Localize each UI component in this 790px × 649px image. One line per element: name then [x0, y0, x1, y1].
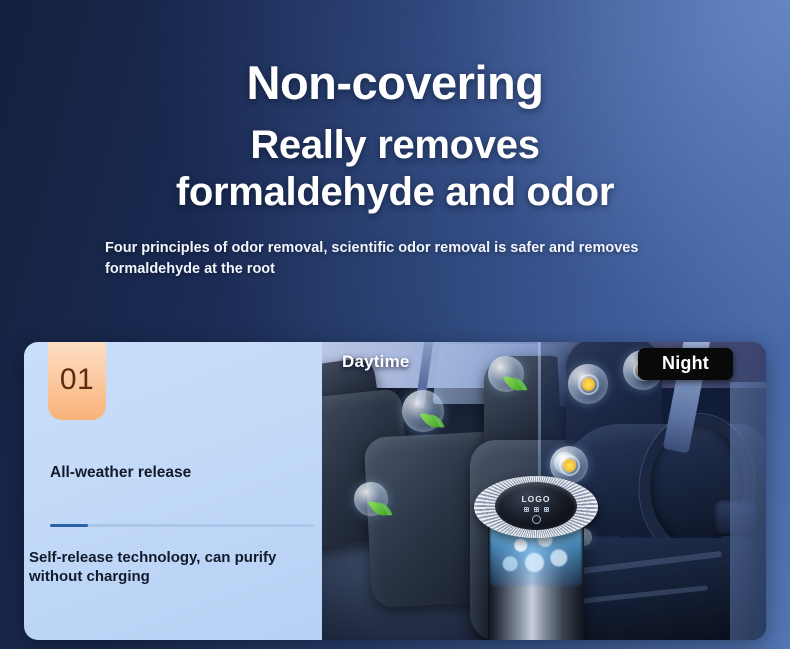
device-logo-text: LOGO	[521, 494, 550, 504]
device-indicator-icons	[524, 507, 549, 512]
indicator-icon	[534, 507, 539, 512]
promo-banner: Non-covering Really removes formaldehyde…	[0, 0, 790, 649]
label-night: Night	[638, 348, 733, 380]
progress-track	[50, 524, 314, 527]
progress-fill	[50, 524, 88, 527]
indicator-icon	[524, 507, 529, 512]
flower-icon	[580, 376, 597, 393]
page-title: Non-covering	[0, 55, 790, 110]
device-control-panel[interactable]: LOGO	[495, 482, 577, 530]
feature-description: Self-release technology, can purify with…	[29, 548, 321, 586]
hero-description: Four principles of odor removal, scienti…	[105, 238, 705, 280]
feature-card: 01 All-weather release Self-release tech…	[24, 342, 766, 640]
leaf-bubble-icon	[488, 356, 524, 392]
hero-subheadline-line-2: formaldehyde and odor	[0, 170, 790, 215]
hero-subheadline-line-1: Really removes	[0, 123, 790, 168]
leaf-bubble-icon	[402, 390, 444, 432]
leaf-bubble-icon	[354, 482, 388, 516]
feature-info-panel: 01 All-weather release Self-release tech…	[24, 342, 322, 640]
product-photo: LOGO Daytime Night	[322, 342, 766, 640]
flower-bubble-icon	[568, 364, 608, 404]
step-number-badge: 01	[48, 342, 106, 420]
power-button-icon[interactable]	[532, 515, 541, 524]
feature-title: All-weather release	[50, 464, 191, 482]
label-daytime: Daytime	[342, 352, 410, 372]
air-purifier-device: LOGO	[474, 470, 598, 640]
indicator-icon	[544, 507, 549, 512]
right-door-panel	[730, 382, 766, 640]
